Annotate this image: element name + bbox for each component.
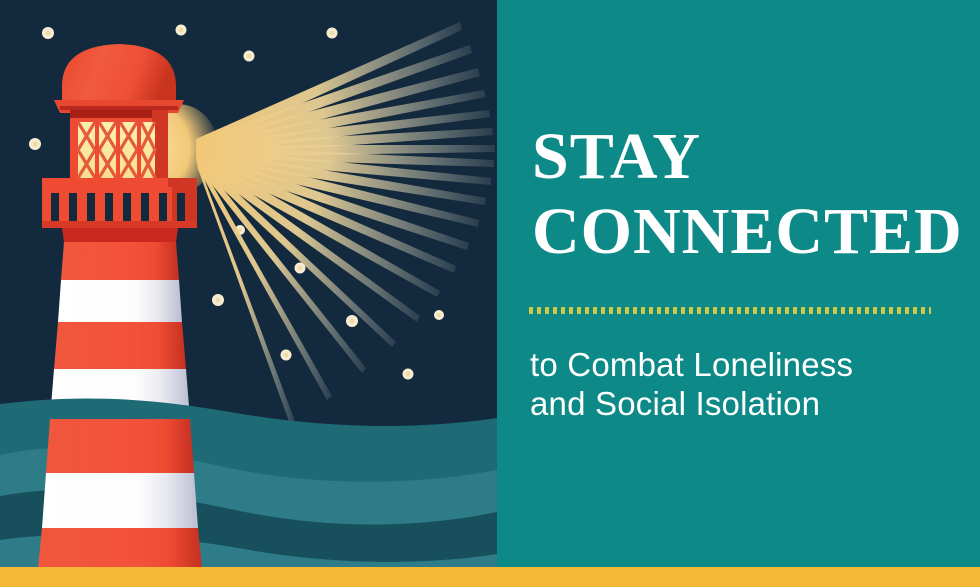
tower-foreground xyxy=(38,419,202,568)
headline-line-1: STAY xyxy=(532,125,701,190)
balcony-bottom-rail xyxy=(42,221,197,228)
subhead-line-2: and Social Isolation xyxy=(530,387,820,420)
lamp-room-glass xyxy=(78,120,155,180)
tower-neck xyxy=(62,228,178,242)
headline-line-2: CONNECTED xyxy=(532,200,963,265)
dotted-divider xyxy=(529,307,931,314)
lighthouse-illustration xyxy=(0,0,497,587)
subhead-line-1: to Combat Loneliness xyxy=(530,348,853,381)
poster-root: STAY CONNECTED to Combat Loneliness and … xyxy=(0,0,980,587)
text-panel: STAY CONNECTED to Combat Loneliness and … xyxy=(497,0,980,587)
dome-trim xyxy=(60,106,178,110)
bottom-accent-bar xyxy=(0,567,980,587)
balcony-deck-shadow xyxy=(168,178,197,187)
illustration-panel xyxy=(0,0,497,587)
